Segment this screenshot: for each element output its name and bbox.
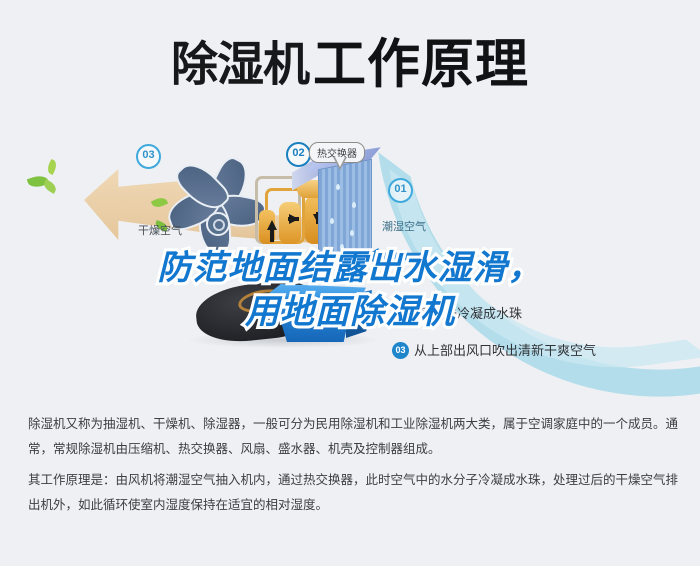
- step-badge-02: 02: [286, 142, 311, 167]
- title-part-one: 除湿机: [171, 38, 309, 91]
- leaf-icon: [42, 179, 59, 194]
- body-paragraph-2: 其工作原理是：由风机将潮湿空气抽入机内，通过热交换器，此时空气中的水分子冷凝成水…: [28, 468, 678, 518]
- step-badge-03: 03: [136, 144, 161, 169]
- flow-arrow-right-icon: [289, 214, 299, 224]
- body-paragraph-1: 除湿机又称为抽湿机、干燥机、除湿器，一般可分为民用除湿机和工业除湿机两大类，属于…: [28, 412, 678, 474]
- title-part-two: 工作原理: [313, 35, 529, 94]
- outlet-line: 从上部出风口吹出清新干爽空气: [414, 340, 596, 359]
- flow-arrow-up-icon: [267, 220, 277, 230]
- poster-root: 除湿机工作原理: [0, 0, 700, 566]
- headline-line-1: 防范地面结露出水湿滑，: [0, 246, 700, 290]
- leaf-icon: [45, 159, 58, 175]
- headline-overlay: 防范地面结露出水湿滑， 用地面除湿机: [0, 246, 700, 334]
- step-label-dry-air: 干燥空气: [138, 222, 182, 238]
- outlet-step-badge: 03: [392, 342, 409, 359]
- step-badge-01: 01: [388, 178, 413, 203]
- callout-pointer-icon: [333, 157, 347, 170]
- page-title: 除湿机工作原理: [0, 22, 700, 98]
- step-label-humid-air: 潮湿空气: [382, 218, 426, 234]
- headline-line-2: 用地面除湿机: [0, 290, 700, 334]
